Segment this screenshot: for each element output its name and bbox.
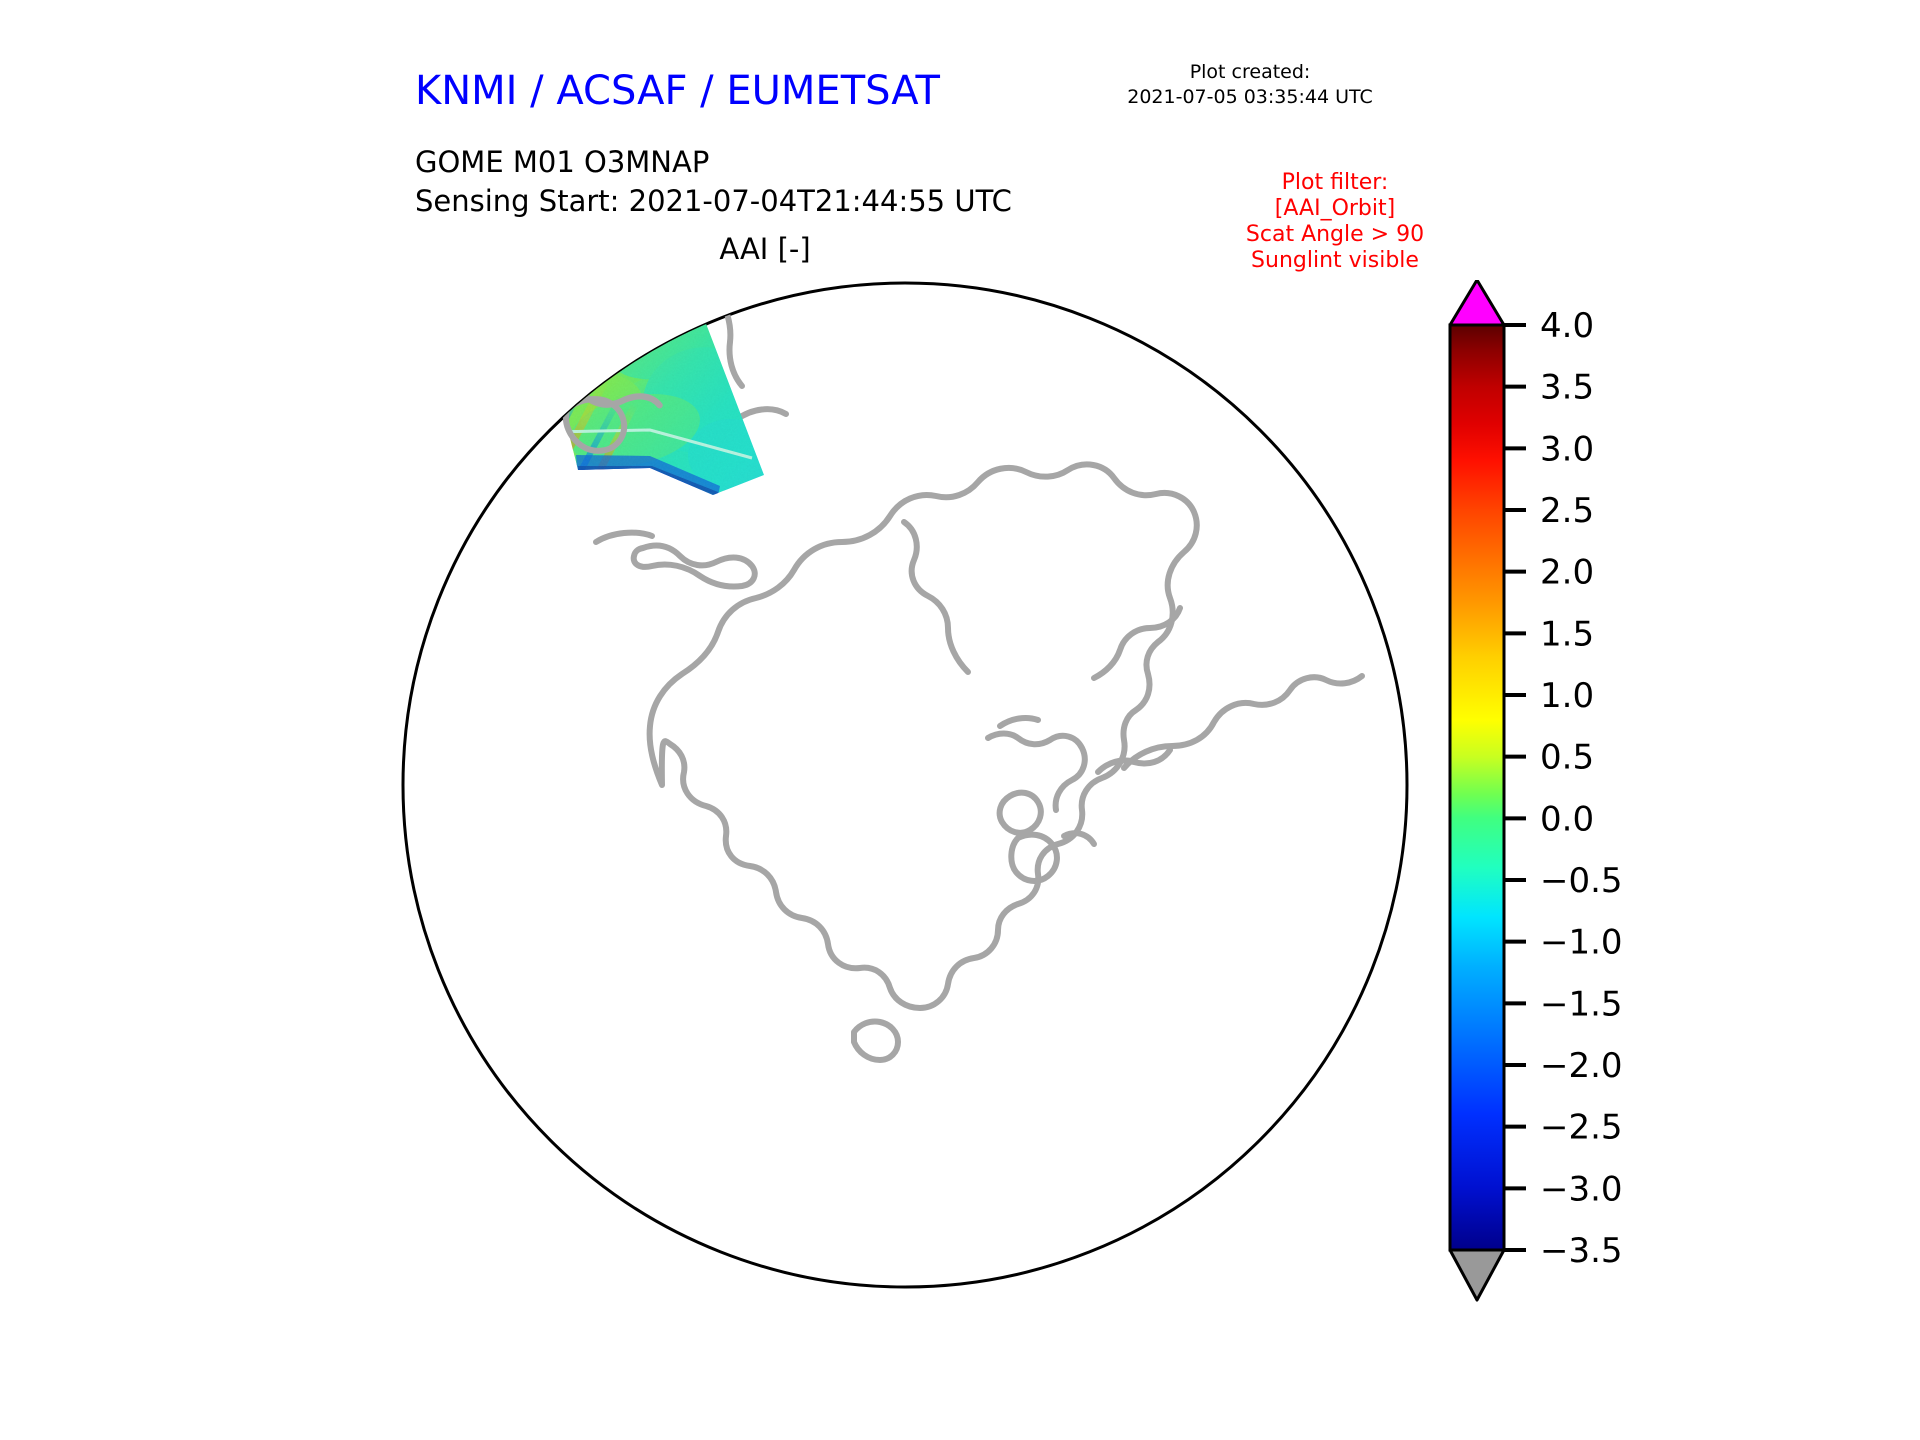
colorbar-tick-label: −3.0 — [1540, 1169, 1623, 1209]
map-svg — [400, 280, 1410, 1290]
plot-created-label: Plot created: — [1060, 60, 1440, 85]
plot-variable-title: AAI [-] — [415, 232, 1115, 266]
dataset-name: GOME M01 O3MNAP — [415, 143, 1012, 182]
globe-outline — [403, 283, 1407, 1287]
colorbar-gradient — [1450, 325, 1504, 1250]
colorbar-over-range-arrow — [1450, 280, 1504, 325]
colorbar-tick-label: 1.0 — [1540, 676, 1594, 716]
sensing-start: Sensing Start: 2021-07-04T21:44:55 UTC — [415, 182, 1012, 221]
plot-filter-sunglint: Sunglint visible — [1180, 248, 1490, 274]
colorbar-tick-label: 3.5 — [1540, 368, 1594, 408]
colorbar-tick-label: −2.0 — [1540, 1046, 1623, 1086]
colorbar-tick-label: −2.5 — [1540, 1108, 1623, 1148]
colorbar-tick-label: −1.0 — [1540, 923, 1623, 963]
colorbar-tick-label: 0.5 — [1540, 738, 1594, 778]
colorbar-tick-label: −3.5 — [1540, 1231, 1623, 1271]
dataset-info-block: GOME M01 O3MNAP Sensing Start: 2021-07-0… — [415, 143, 1012, 221]
colorbar-tick-label: 4.0 — [1540, 306, 1594, 346]
colorbar-svg: 4.03.53.02.52.01.51.00.50.0−0.5−1.0−1.5−… — [1440, 280, 1740, 1310]
colorbar-ticks: 4.03.53.02.52.01.51.00.50.0−0.5−1.0−1.5−… — [1504, 306, 1623, 1271]
colorbar: 4.03.53.02.52.01.51.00.50.0−0.5−1.0−1.5−… — [1440, 280, 1740, 1310]
colorbar-tick-label: 2.5 — [1540, 491, 1594, 531]
polar-map-plot — [400, 280, 1410, 1290]
colorbar-tick-label: 2.0 — [1540, 553, 1594, 593]
colorbar-tick-label: −1.5 — [1540, 984, 1623, 1024]
organisation-title: KNMI / ACSAF / EUMETSAT — [415, 68, 940, 114]
colorbar-tick-label: 1.5 — [1540, 614, 1594, 654]
plot-filter-scat-angle: Scat Angle > 90 — [1180, 222, 1490, 248]
plot-filter-block: Plot filter: [AAI_Orbit] Scat Angle > 90… — [1180, 170, 1490, 274]
colorbar-under-range-arrow — [1450, 1250, 1504, 1300]
colorbar-tick-label: 0.0 — [1540, 799, 1594, 839]
colorbar-tick-label: −0.5 — [1540, 861, 1623, 901]
plot-filter-label: Plot filter: — [1180, 170, 1490, 196]
plot-filter-product: [AAI_Orbit] — [1180, 196, 1490, 222]
plot-created-timestamp: 2021-07-05 03:35:44 UTC — [1060, 85, 1440, 110]
plot-created-block: Plot created: 2021-07-05 03:35:44 UTC — [1060, 60, 1440, 110]
colorbar-tick-label: 3.0 — [1540, 429, 1594, 469]
